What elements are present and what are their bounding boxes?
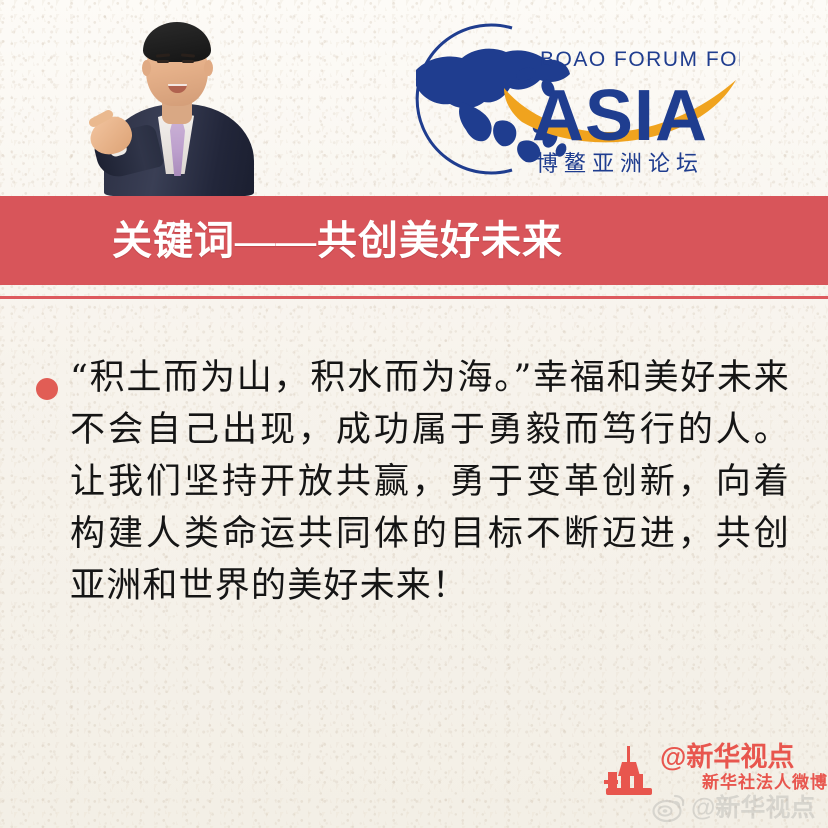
boao-forum-logo: BOAO FORUM FOR ASIA 博鳌亚洲论坛 — [400, 18, 740, 180]
xinhua-mark-icon — [602, 744, 658, 796]
portrait-eye-right — [182, 60, 194, 63]
quote-block: “积土而为山，积水而为海。”幸福和美好未来不会自己出现，成功属于勇毅而笃行的人。… — [0, 352, 828, 612]
bullet-dot-icon — [36, 378, 58, 400]
brand-text-stack: @新华视点 新华社法人微博 — [660, 742, 828, 793]
logo-chinese-name: 博鳌亚洲论坛 — [536, 152, 704, 177]
portrait-ear-left — [142, 60, 151, 76]
banner-underline-rule — [0, 296, 828, 299]
banner-title: 关键词——共创美好未来 — [112, 221, 563, 261]
speaker-portrait — [96, 8, 262, 196]
logo-tagline: BOAO FORUM FOR — [540, 48, 740, 71]
brand-handle: @新华视点 — [660, 742, 828, 772]
weibo-watermark-text: @新华视点 — [691, 793, 815, 823]
portrait-hair — [143, 22, 211, 62]
quote-paragraph: “积土而为山，积水而为海。”幸福和美好未来不会自己出现，成功属于勇毅而笃行的人。… — [70, 352, 790, 612]
header: BOAO FORUM FOR ASIA 博鳌亚洲论坛 — [0, 0, 828, 196]
weibo-icon — [652, 793, 686, 823]
portrait-eye-left — [157, 60, 169, 63]
content-area: “积土而为山，积水而为海。”幸福和美好未来不会自己出现，成功属于勇毅而笃行的人。… — [0, 352, 828, 612]
section-banner: 关键词——共创美好未来 — [0, 196, 828, 285]
weibo-watermark: @新华视点 — [652, 790, 828, 826]
portrait-ear-right — [204, 60, 213, 76]
logo-wordmark: ASIA — [532, 76, 708, 156]
poster-canvas: BOAO FORUM FOR ASIA 博鳌亚洲论坛 关键词——共创美好未来 “… — [0, 0, 828, 828]
